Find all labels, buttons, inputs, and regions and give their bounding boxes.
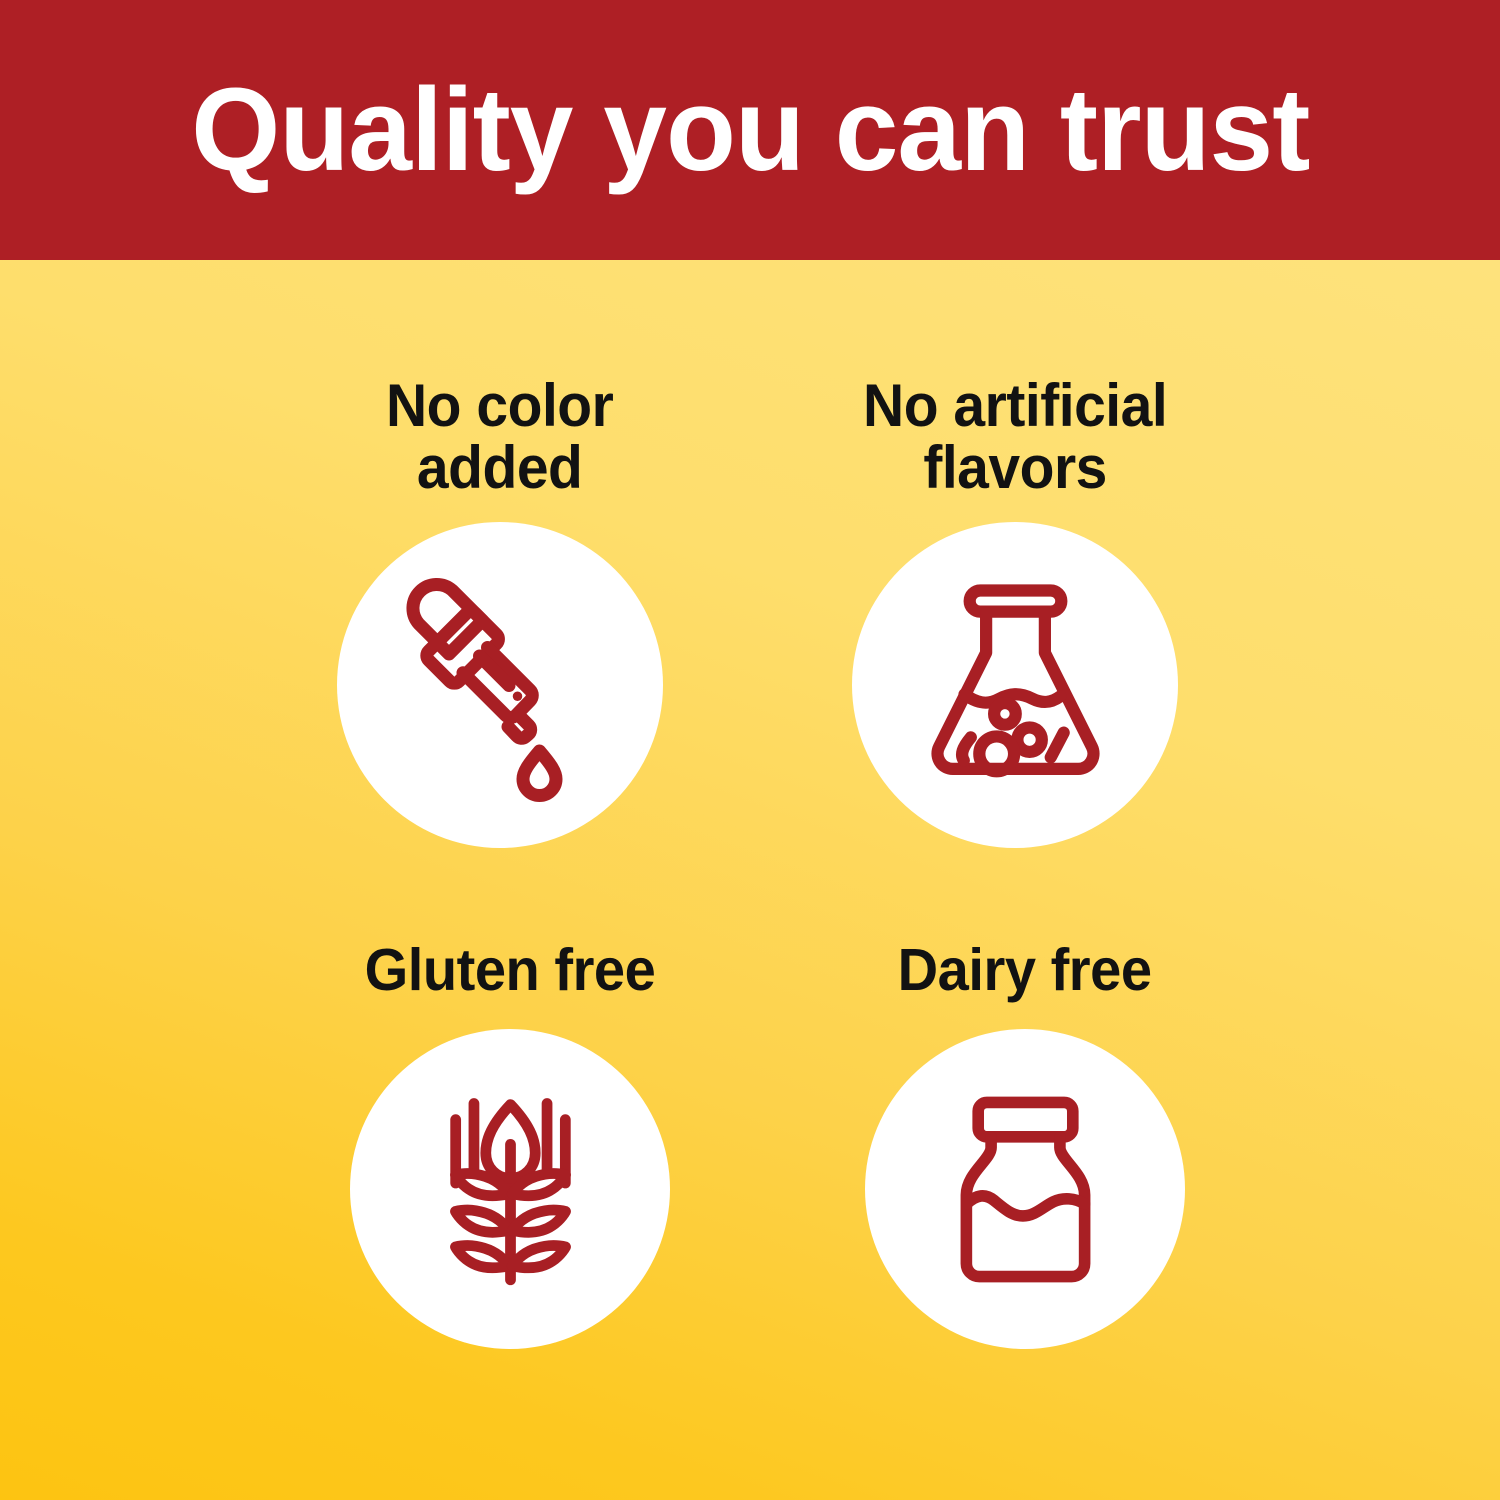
icon-badge [337, 522, 663, 848]
feature-no-artificial-flavors: No artificial flavors [805, 375, 1225, 848]
feature-no-color-added: No color added [290, 375, 710, 848]
milk-bottle-icon [918, 1082, 1133, 1297]
feature-label: No color added [386, 375, 613, 500]
dropper-icon [375, 560, 625, 810]
wheat-icon [403, 1082, 618, 1297]
icon-badge [865, 1029, 1185, 1349]
flask-icon [898, 567, 1133, 802]
icon-badge [852, 522, 1178, 848]
feature-label: Gluten free [365, 940, 656, 1001]
icon-badge [350, 1029, 670, 1349]
header-banner: Quality you can trust [0, 0, 1500, 260]
feature-dairy-free: Dairy free [815, 940, 1235, 1349]
feature-gluten-free: Gluten free [300, 940, 720, 1349]
feature-grid: No color added [0, 260, 1500, 1500]
feature-label: Dairy free [898, 940, 1152, 1001]
feature-label: No artificial flavors [863, 375, 1167, 500]
promo-graphic: Quality you can trust No color added [0, 0, 1500, 1500]
page-title: Quality you can trust [181, 71, 1318, 189]
